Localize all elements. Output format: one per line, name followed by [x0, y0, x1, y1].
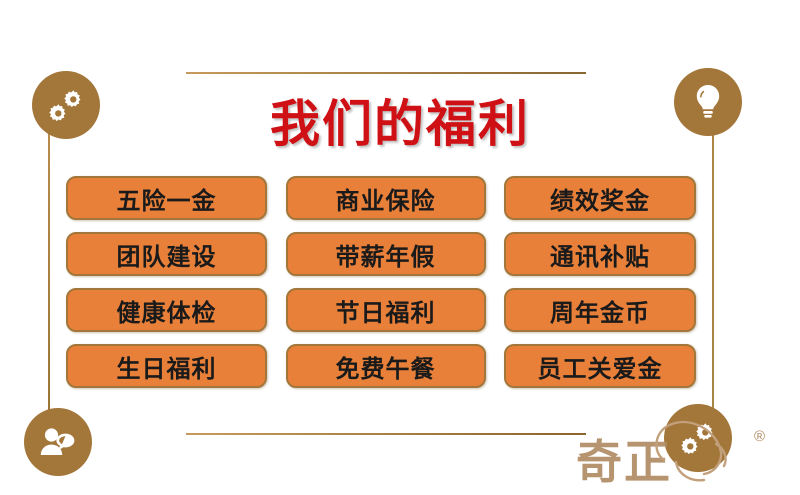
benefits-grid: 五险一金 商业保险 绩效奖金 团队建设 带薪年假 通讯补贴 健康体检 节日福利 … [66, 176, 696, 388]
benefits-row: 团队建设 带薪年假 通讯补贴 [66, 232, 696, 276]
benefit-chip[interactable]: 生日福利 [66, 344, 267, 388]
registered-mark: ® [754, 428, 765, 445]
frame-line-top [186, 72, 586, 74]
benefit-chip[interactable]: 节日福利 [286, 288, 486, 332]
benefit-chip[interactable]: 免费午餐 [286, 344, 486, 388]
page-title: 我们的福利 [0, 84, 800, 156]
corner-badge-bottom-right [664, 404, 732, 472]
benefits-row: 健康体检 节日福利 周年金币 [66, 288, 696, 332]
gears-icon [678, 420, 718, 456]
frame-line-right [712, 120, 714, 415]
benefit-chip[interactable]: 周年金币 [504, 288, 696, 332]
corner-badge-bottom-left [24, 408, 92, 476]
watermark-text: 奇正 [576, 426, 672, 492]
benefit-chip[interactable]: 带薪年假 [286, 232, 486, 276]
person-speech-bubble-icon [38, 424, 78, 460]
benefit-chip[interactable]: 商业保险 [286, 176, 486, 220]
frame-line-bottom [186, 433, 586, 435]
benefit-chip[interactable]: 通讯补贴 [504, 232, 696, 276]
benefit-chip[interactable]: 健康体检 [66, 288, 267, 332]
benefit-chip[interactable]: 团队建设 [66, 232, 267, 276]
benefits-row: 生日福利 免费午餐 员工关爱金 [66, 344, 696, 388]
benefit-chip[interactable]: 五险一金 [66, 176, 267, 220]
slide-canvas: 我们的福利 五险一金 商业保险 绩效奖金 团队建设 带薪年假 通讯补贴 健康体检… [0, 0, 800, 493]
benefits-row: 五险一金 商业保险 绩效奖金 [66, 176, 696, 220]
benefit-chip[interactable]: 绩效奖金 [504, 176, 696, 220]
benefit-chip[interactable]: 员工关爱金 [504, 344, 696, 388]
frame-line-left [48, 128, 50, 418]
